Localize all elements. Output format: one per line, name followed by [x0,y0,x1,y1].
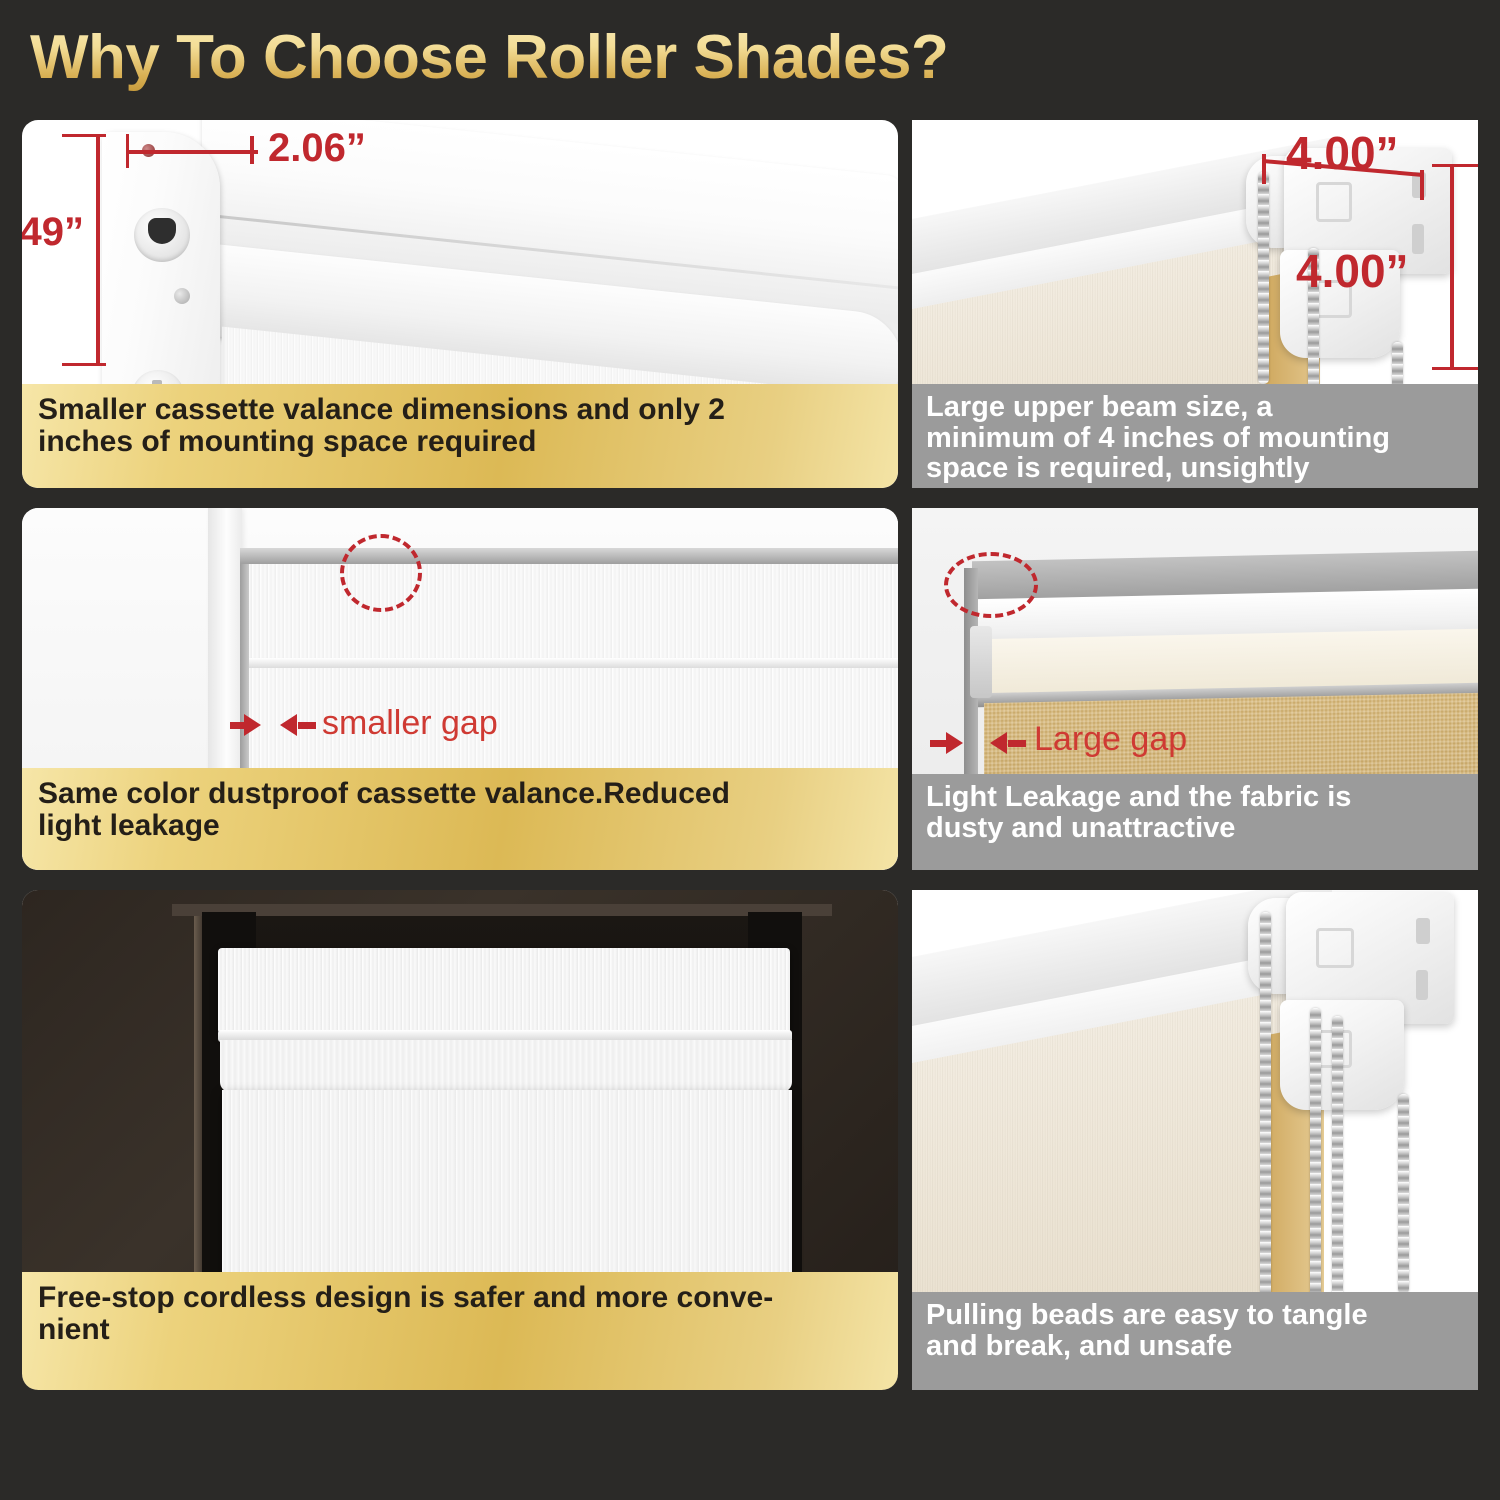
dim-cap-top [62,134,106,137]
gap-arrow-right-shaft [1008,740,1026,747]
width-dimension-label: 4.00” [1286,126,1399,180]
height-dimension-label: 4.00” [1296,244,1409,298]
panel-5-caption: Free-stop cordless design is safer and m… [22,1272,898,1390]
window-header [172,904,832,916]
valance-lip [244,658,898,668]
panel-1-caption: Smaller cassette valance dimensions and … [22,384,898,488]
bead-chain-mid2 [1332,1016,1343,1306]
dim-line-height [96,134,100,366]
panel-dustproof-valance: smaller gap Same color dustproof cassett… [22,508,898,870]
highlight-circle-icon [944,552,1038,618]
window-jamb [208,508,242,783]
panel-3-caption: Same color dustproof cassette valance.Re… [22,768,898,870]
panel-6-caption: Pulling beads are easy to tangle and bre… [912,1292,1478,1390]
panel-pulling-beads: Pulling beads are easy to tangle and bre… [912,890,1478,1390]
bead-chain-left [1258,172,1269,384]
shade-side-edge [240,564,249,768]
side-bracket [970,626,992,698]
gap-arrow-right-head-icon [990,732,1007,754]
bead-chain-mid [1310,1008,1321,1308]
highlight-circle-icon [340,534,422,612]
gap-arrow-left-head-icon [946,732,963,754]
bead-chain-left [1260,912,1271,1304]
dim-cap-bottom [1432,367,1478,370]
cassette-valance [218,948,790,1034]
panel-large-upper-beam: 4.00” 4.00” Large upper beam size, a min… [912,120,1478,488]
end-cap-knob-icon [134,208,190,262]
bracket-slot2-icon [1416,970,1428,1000]
gap-arrow-right-shaft [298,722,316,729]
panel-cordless-design: Free-stop cordless design is safer and m… [22,890,898,1390]
panel-smaller-cassette: 2.06” 5.49” Smaller cassette valance dim… [22,120,898,488]
gap-label: Large gap [1034,720,1187,759]
bracket-slot2-icon [1412,224,1424,254]
bracket-slot-icon [1416,918,1430,944]
dim-cap-top [1432,164,1478,167]
panel-2-caption: Large upper beam size, a minimum of 4 in… [912,384,1478,488]
roller-tube [220,1040,792,1092]
dim-tick-right [1420,170,1424,200]
dim-tick-right [250,136,254,164]
screw-icon [174,288,190,304]
dim-line-width [126,150,258,154]
gap-arrow-left-head-icon [244,714,261,736]
width-dimension-label: 2.06” [268,126,366,171]
comparison-grid: 2.06” 5.49” Smaller cassette valance dim… [0,0,1500,1500]
height-dimension-label: 5.49” [22,210,84,255]
gap-arrow-right-head-icon [280,714,297,736]
head-rail [240,548,898,564]
gap-label: smaller gap [322,704,498,743]
panel-4-caption: Light Leakage and the fabric is dusty an… [912,774,1478,870]
dim-cap-bottom [62,363,106,366]
bracket-emboss-icon [1316,182,1352,222]
dim-line-height [1450,164,1454,370]
bead-chain-right [1398,1094,1409,1294]
panel-light-leakage: Large gap Light Leakage and the fabric i… [912,508,1478,870]
bracket-emboss-icon [1316,928,1354,968]
